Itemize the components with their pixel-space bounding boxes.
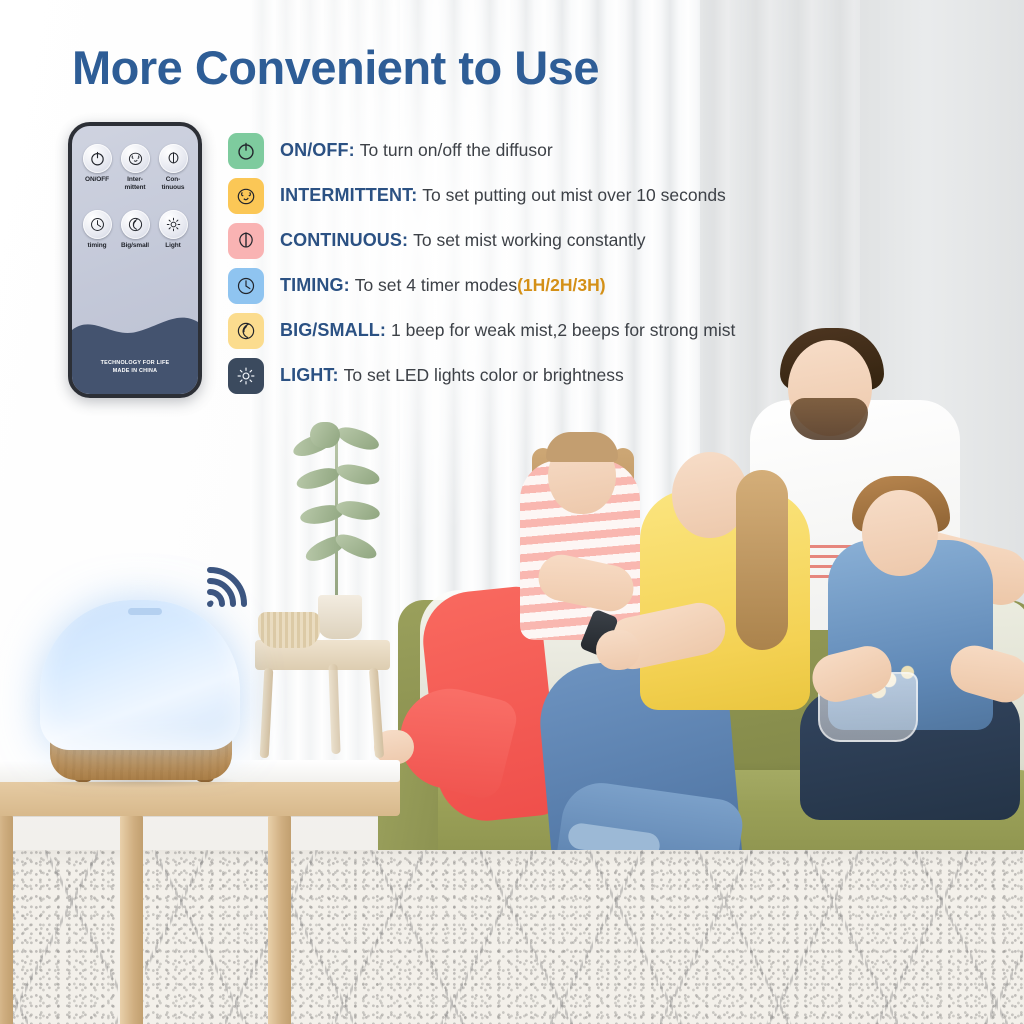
person-mother-hair <box>736 470 788 650</box>
feature-description: To set mist working constantly <box>413 230 645 250</box>
feature-description: 1 beep for weak mist,2 beeps for strong … <box>391 320 735 340</box>
coffee-table-leg <box>0 812 13 1024</box>
person-boy-head <box>862 490 938 576</box>
feature-label: CONTINUOUS: <box>280 230 408 250</box>
feature-row-light: LIGHT:To set LED lights color or brightn… <box>228 353 928 398</box>
remote-key-label: Inter-mittent <box>116 176 154 191</box>
remote-key-onoff[interactable]: ON/OFF <box>78 144 116 191</box>
feature-row-continuous: CONTINUOUS:To set mist working constantl… <box>228 218 928 263</box>
wifi-signal-icon <box>196 556 258 618</box>
remote-control-illustration: ON/OFF Inter-mittent <box>68 122 202 398</box>
feature-row-bigsmall: BIG/SMALL:1 beep for weak mist,2 beeps f… <box>228 308 928 353</box>
person-mother-hand <box>596 630 640 670</box>
feature-label: TIMING: <box>280 275 350 295</box>
person-girl-bangs <box>546 432 618 462</box>
coffee-table-leg <box>120 812 143 1024</box>
feature-label: INTERMITTENT: <box>280 185 417 205</box>
remote-key-label: timing <box>78 242 116 250</box>
clock-icon <box>228 268 264 304</box>
remote-key-label: Light <box>154 242 192 250</box>
remote-key-intermittent[interactable]: Inter-mittent <box>116 144 154 191</box>
coffee-table-leg <box>268 812 291 1024</box>
remote-bottom-wave-panel <box>72 304 198 394</box>
intermittent-mist-icon <box>121 144 150 173</box>
remote-key-label: ON/OFF <box>78 176 116 184</box>
diffuser-mist-vent <box>128 608 162 615</box>
person-father-beard <box>790 398 868 440</box>
feature-text: LIGHT:To set LED lights color or brightn… <box>280 365 624 386</box>
feature-row-timing: TIMING:To set 4 timer modes(1H/2H/3H) <box>228 263 928 308</box>
remote-key-label: Con-tinuous <box>154 176 192 191</box>
feature-label: ON/OFF: <box>280 140 355 160</box>
power-icon <box>228 133 264 169</box>
feature-text: INTERMITTENT:To set putting out mist ove… <box>280 185 726 206</box>
feature-text: ON/OFF:To turn on/off the diffusor <box>280 140 553 161</box>
sun-icon <box>159 210 188 239</box>
continuous-mist-icon <box>159 144 188 173</box>
feature-list: ON/OFF:To turn on/off the diffusor INTER… <box>228 128 928 398</box>
feature-row-onoff: ON/OFF:To turn on/off the diffusor <box>228 128 928 173</box>
remote-keypad: ON/OFF Inter-mittent <box>72 144 198 250</box>
feature-description: To turn on/off the diffusor <box>360 140 553 160</box>
feature-description: To set putting out mist over 10 seconds <box>422 185 726 205</box>
mist-swirl-icon <box>228 313 264 349</box>
feature-label: LIGHT: <box>280 365 339 385</box>
page-title: More Convenient to Use <box>72 40 599 95</box>
feature-label: BIG/SMALL: <box>280 320 386 340</box>
remote-key-light[interactable]: Light <box>154 210 192 250</box>
remote-brand-text: TECHNOLOGY FOR LIFE MADE IN CHINA <box>72 360 198 376</box>
remote-key-label: Big/small <box>116 242 154 250</box>
feature-text: TIMING:To set 4 timer modes(1H/2H/3H) <box>280 275 606 296</box>
feature-description: To set LED lights color or brightness <box>344 365 624 385</box>
remote-brand-line-1: TECHNOLOGY FOR LIFE <box>72 360 198 368</box>
sun-icon <box>228 358 264 394</box>
remote-key-row-bottom: timing Big/small <box>72 210 198 250</box>
power-icon <box>83 144 112 173</box>
feature-text: BIG/SMALL:1 beep for weak mist,2 beeps f… <box>280 320 735 341</box>
mist-swirl-icon <box>121 210 150 239</box>
clock-icon <box>83 210 112 239</box>
remote-key-timing[interactable]: timing <box>78 210 116 250</box>
feature-row-intermittent: INTERMITTENT:To set putting out mist ove… <box>228 173 928 218</box>
feature-description: To set 4 timer modes <box>355 275 517 295</box>
plant-pot <box>318 595 362 639</box>
woven-basket <box>258 612 320 648</box>
intermittent-mist-icon <box>228 178 264 214</box>
remote-brand-line-2: MADE IN CHINA <box>72 368 198 376</box>
remote-key-bigsmall[interactable]: Big/small <box>116 210 154 250</box>
area-rug <box>0 850 1024 1024</box>
remote-key-continuous[interactable]: Con-tinuous <box>154 144 192 191</box>
continuous-mist-icon <box>228 223 264 259</box>
remote-key-row-top: ON/OFF Inter-mittent <box>72 144 198 191</box>
feature-text: CONTINUOUS:To set mist working constantl… <box>280 230 646 251</box>
feature-highlight: (1H/2H/3H) <box>517 275 606 295</box>
plant-leaf <box>310 422 340 448</box>
